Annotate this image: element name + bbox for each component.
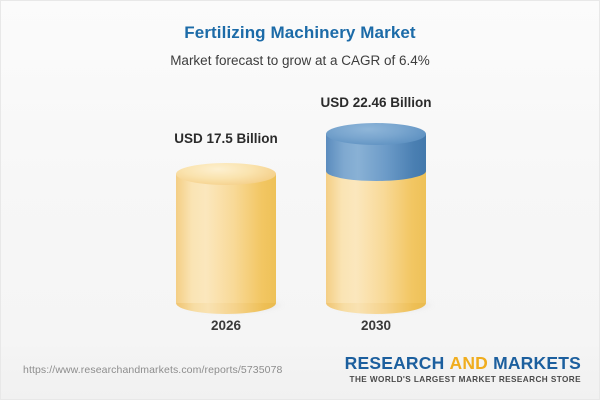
cylinder-body-base (176, 174, 276, 303)
logo-tagline: THE WORLD'S LARGEST MARKET RESEARCH STOR… (345, 374, 581, 386)
brand-logo[interactable]: RESEARCH AND MARKETS THE WORLD'S LARGEST… (345, 353, 581, 386)
bar-value-label: USD 17.5 Billion (131, 131, 321, 146)
logo-word-and: AND (449, 353, 488, 373)
logo-word-research: RESEARCH (345, 353, 445, 373)
chart-plot-area: USD 17.5 Billion 2026 USD 22.46 Billion … (1, 1, 600, 346)
logo-word-markets: MARKETS (493, 353, 581, 373)
cylinder-top-cap (326, 123, 426, 145)
axis-tick-label: 2030 (281, 318, 471, 333)
bar-value-label: USD 22.46 Billion (281, 95, 471, 110)
logo-wordmark: RESEARCH AND MARKETS (345, 353, 581, 373)
cylinder-body-base (326, 171, 426, 303)
footer-bar: https://www.researchandmarkets.com/repor… (1, 347, 599, 399)
chart-card: Fertilizing Machinery Market Market fore… (0, 0, 600, 400)
cylinder-top-cap (176, 163, 276, 185)
report-url[interactable]: https://www.researchandmarkets.com/repor… (23, 364, 282, 376)
